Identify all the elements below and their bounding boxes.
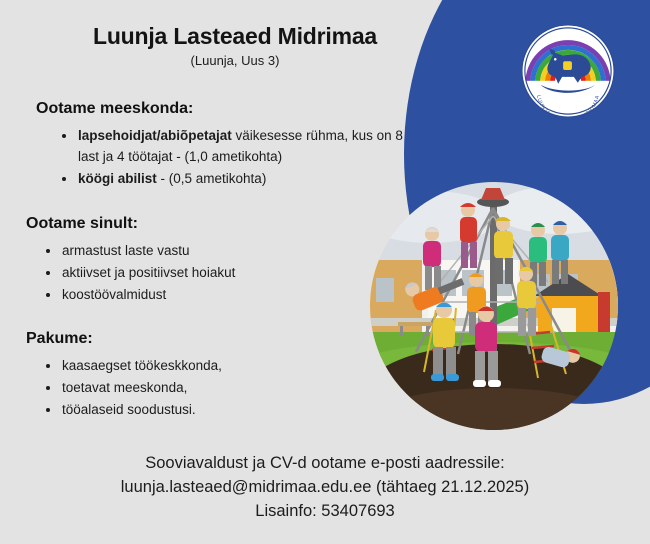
list-item-text: toetavat meeskonda, [62, 380, 187, 395]
list-item: tööalaseid soodustusi. [62, 400, 380, 421]
section-heading: Ootame sinult: [0, 215, 380, 233]
list-item: kaasaegset töökeskkonda, [62, 356, 380, 377]
list-item-text: tööalaseid soodustusi. [62, 402, 196, 417]
list-item: armastust laste vastu [62, 241, 380, 262]
list-item-text: armastust laste vastu [62, 243, 190, 258]
section-heading: Pakume: [0, 330, 380, 348]
section-bullet-list: kaasaegset töökeskkonda, toetavat meesko… [0, 356, 380, 421]
section-heading: Ootame meeskonda: [0, 100, 470, 118]
list-item-text: aktiivset ja positiivset hoiakut [62, 265, 235, 280]
section-bullet-list: armastust laste vastu aktiivset ja posit… [0, 241, 380, 306]
list-item: koostöövalmidust [62, 285, 380, 306]
job-posting-poster: LUUNJA LASTEAED MIDRIMAA [0, 0, 650, 544]
section-team: Ootame meeskonda: lapsehoidjat/abiõpetaj… [0, 100, 470, 191]
footer-line-intro: Sooviavaldust ja CV-d ootame e-posti aad… [0, 452, 650, 476]
team-playground-photo [370, 182, 618, 430]
luunja-lasteaed-midrimaa-logo: LUUNJA LASTEAED MIDRIMAA [519, 22, 617, 120]
section-offer: Pakume: kaasaegset töökeskkonda, toetava… [0, 330, 380, 422]
list-item-text: - (0,5 ametikohta) [157, 171, 267, 186]
footer-line-phone: Lisainfo: 53407693 [0, 500, 650, 524]
page-title: Luunja Lasteaed Midrimaa [0, 24, 470, 49]
list-item: toetavat meeskonda, [62, 378, 380, 399]
list-item-text: kaasaegset töökeskkonda, [62, 358, 222, 373]
section-bullet-list: lapsehoidjat/abiõpetajat väikesesse rühm… [0, 126, 470, 190]
page-subtitle: (Luunja, Uus 3) [0, 54, 470, 68]
list-item: lapsehoidjat/abiõpetajat väikesesse rühm… [78, 126, 418, 168]
poster-header: Luunja Lasteaed Midrimaa (Luunja, Uus 3) [0, 24, 470, 69]
section-expectations: Ootame sinult: armastust laste vastu akt… [0, 215, 380, 307]
list-item-bold: köögi abilist [78, 171, 157, 186]
list-item: köögi abilist - (0,5 ametikohta) [78, 169, 418, 190]
contact-footer: Sooviavaldust ja CV-d ootame e-posti aad… [0, 452, 650, 524]
list-item-text: koostöövalmidust [62, 287, 166, 302]
list-item-bold: lapsehoidjat/abiõpetajat [78, 128, 232, 143]
list-item: aktiivset ja positiivset hoiakut [62, 263, 380, 284]
footer-line-email: luunja.lasteaed@midrimaa.edu.ee (tähtaeg… [0, 476, 650, 500]
